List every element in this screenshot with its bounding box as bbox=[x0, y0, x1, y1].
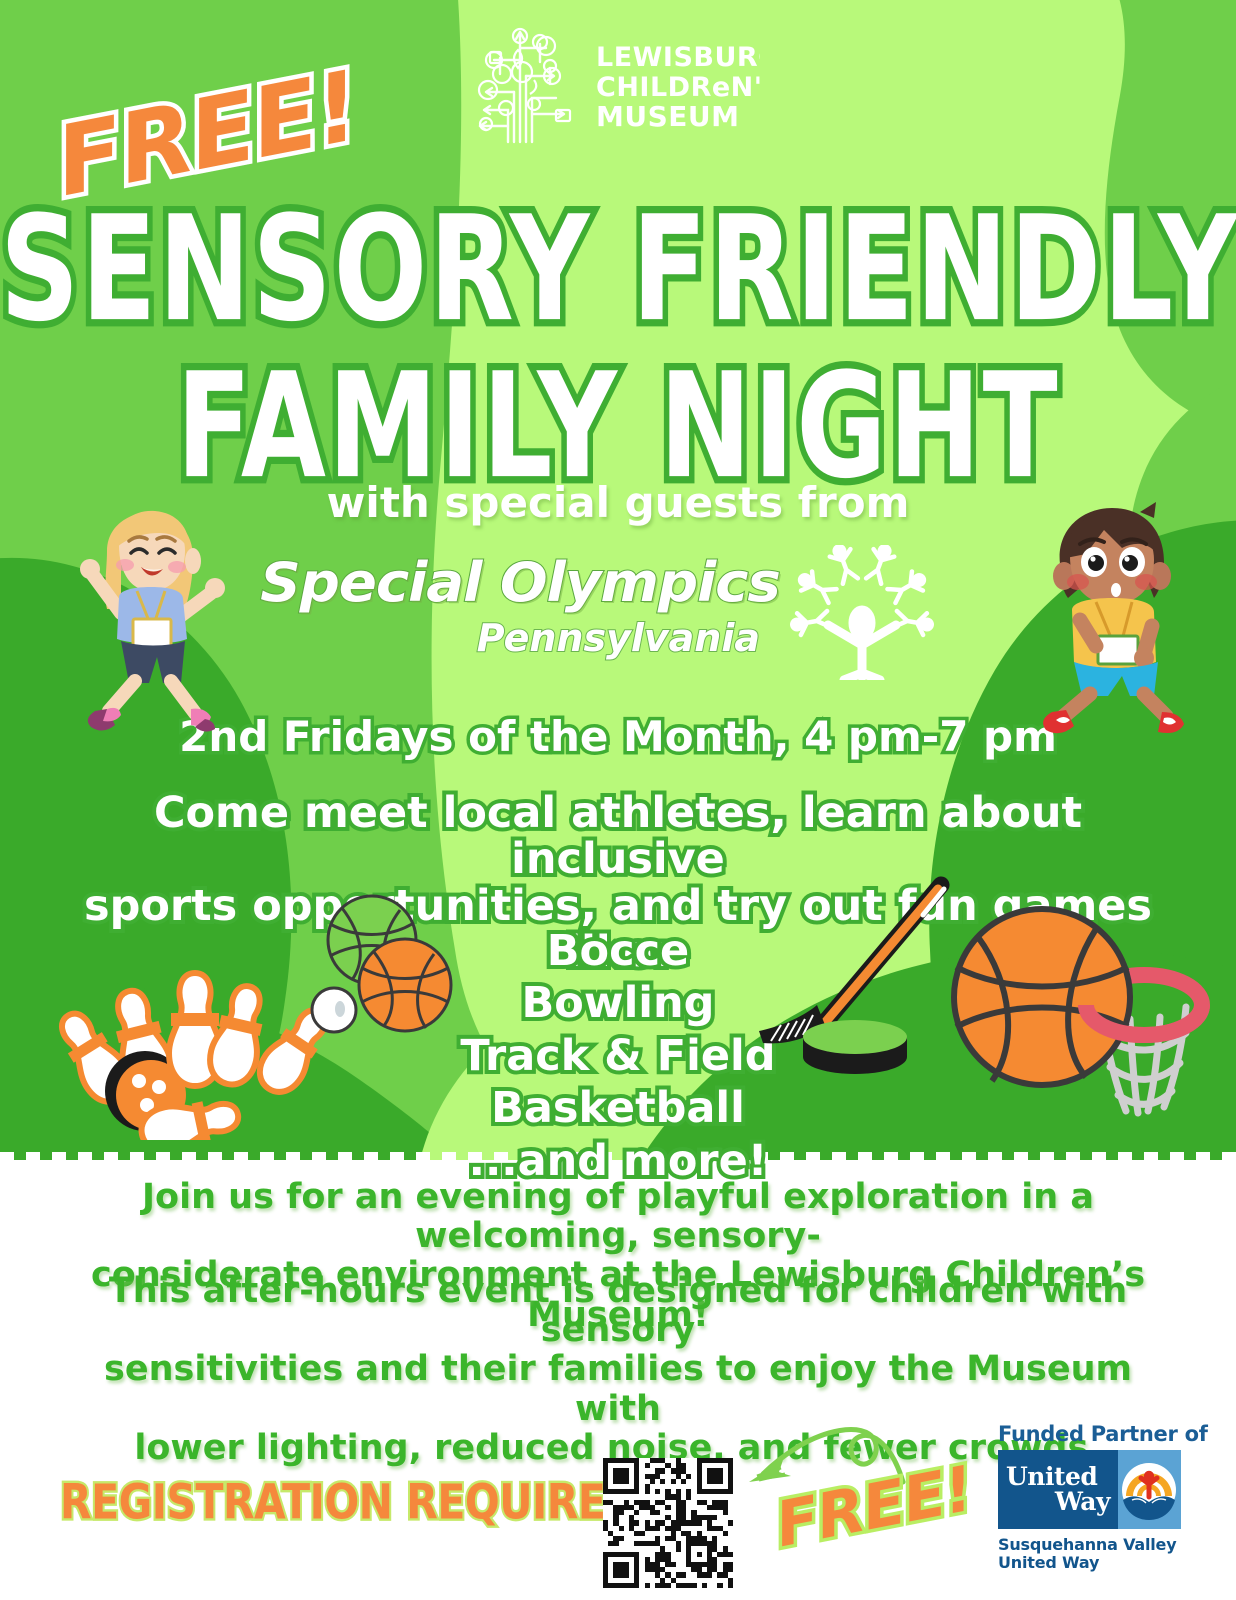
united-way-mark-panel bbox=[1118, 1450, 1181, 1529]
details-p1-line-1: Join us for an evening of playful explor… bbox=[28, 1178, 1208, 1256]
special-olympics-figures-icon bbox=[770, 545, 955, 680]
title-line-1: SENSORY FRIENDLY bbox=[0, 195, 1236, 343]
logo-text-line3: MUSEUM bbox=[596, 100, 740, 133]
united-way-funded-partner-label: Funded Partner of bbox=[998, 1424, 1183, 1445]
united-way-word-way: Way bbox=[1006, 1490, 1118, 1515]
event-description-line-1: Come meet local athletes, learn about in… bbox=[70, 790, 1166, 883]
jumping-girl-icon bbox=[45, 505, 245, 740]
united-way-wordmark: United Way bbox=[998, 1450, 1118, 1529]
qr-code-registration[interactable] bbox=[603, 1458, 733, 1588]
qr-code-grid[interactable] bbox=[603, 1458, 733, 1588]
poster-root: LEWISBURG CHILDReN'S MUSEUM FREE! SENSOR… bbox=[0, 0, 1236, 1600]
details-p2-line-2: sensitivities and their families to enjo… bbox=[70, 1350, 1166, 1428]
united-way-chapter-line-2: United Way bbox=[998, 1554, 1183, 1572]
bocce-balls-icon bbox=[300, 890, 475, 1035]
details-p2-line-1: This after-hours event is designed for c… bbox=[70, 1272, 1166, 1350]
united-way-brand-box: United Way bbox=[998, 1450, 1181, 1529]
special-olympics-name: Special Olympics bbox=[260, 551, 770, 614]
special-olympics-wordmark: Special Olympics Pennsylvania bbox=[270, 551, 760, 660]
logo-text-line1: LEWISBURG bbox=[596, 42, 760, 73]
united-way-chapter-line-1: Susquehanna Valley bbox=[998, 1536, 1183, 1554]
united-way-word-united: United bbox=[1006, 1465, 1118, 1490]
museum-logo: LEWISBURG CHILDReN'S MUSEUM bbox=[460, 14, 760, 144]
united-way-logo: Funded Partner of United Way bbox=[998, 1424, 1183, 1590]
united-way-hand-rainbow-icon bbox=[1118, 1450, 1181, 1529]
registration-required-label: REGISTRATION REQUIRED: bbox=[60, 1474, 655, 1531]
united-way-chapter: Susquehanna Valley United Way bbox=[998, 1536, 1183, 1573]
bowling-pins-and-ball-icon bbox=[35, 955, 335, 1140]
running-boy-icon bbox=[1012, 500, 1212, 735]
special-olympics-logo: Special Olympics Pennsylvania bbox=[270, 545, 970, 685]
logo-text-line2: CHILDReN'S bbox=[596, 72, 760, 103]
page-title: SENSORY FRIENDLY FAMILY NIGHT bbox=[0, 195, 1236, 464]
special-olympics-region: Pennsylvania bbox=[270, 616, 760, 660]
basketball-and-hoop-icon bbox=[930, 905, 1220, 1120]
